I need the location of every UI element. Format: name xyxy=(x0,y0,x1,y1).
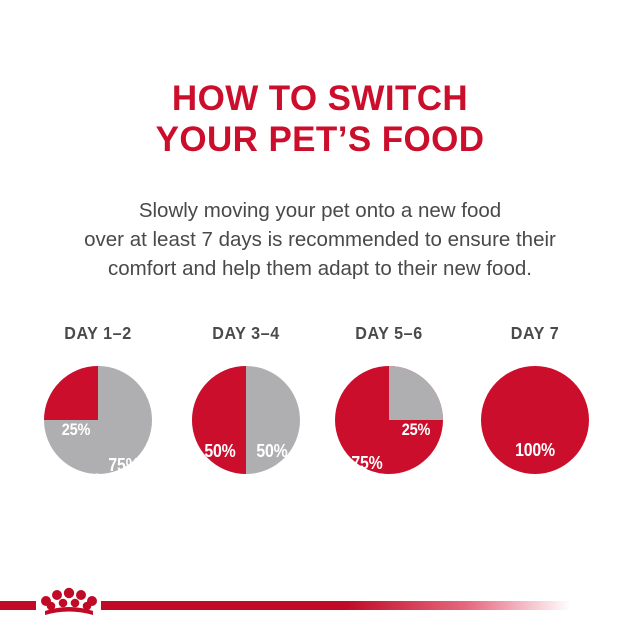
slice-name-new-food: NEW FOOD xyxy=(512,493,558,503)
slice-percent-new-food: 50% xyxy=(197,442,243,460)
slice-name-old-food: OLD FOOD xyxy=(101,508,147,518)
pie-chart-day-7: DAY 7 100% NEW FOOD xyxy=(460,322,610,474)
slice-percent-old-food: 75% xyxy=(101,456,147,474)
slice-label-new-food: 75% NEW FOOD xyxy=(341,422,393,548)
slice-name-new-food: NEW FOOD xyxy=(197,494,243,504)
slice-name-old-food: OLD FOOD xyxy=(394,473,438,483)
footer-brand-bar xyxy=(0,598,640,640)
slice-label-old-food: 25% OLD FOOD xyxy=(391,390,441,514)
slice-name-new-food: NEW FOOD xyxy=(344,506,390,516)
page-title-line-1: HOW TO SWITCH xyxy=(0,78,640,119)
day-label-1: DAY 1–2 xyxy=(29,322,167,344)
page-subtitle-line-2: over at least 7 days is recommended to e… xyxy=(0,225,640,254)
slice-label-new-food: 50% NEW FOOD xyxy=(194,410,246,536)
footer-bar-left-segment xyxy=(0,601,36,610)
slice-percent-new-food: 25% xyxy=(53,422,99,439)
pie-graphic-day-1-2: 25% NEW FOOD 75% OLD FOOD xyxy=(44,366,152,474)
slice-label-new-food: 100% NEW FOOD xyxy=(509,409,561,535)
slice-name-old-food: OLD FOOD xyxy=(249,494,295,504)
pie-chart-row: DAY 1–2 25% NEW FOOD 75% OLD FOOD DAY 3–… xyxy=(0,322,640,492)
page-title: HOW TO SWITCH YOUR PET’S FOOD xyxy=(0,78,640,160)
page-subtitle-line-1: Slowly moving your pet onto a new food xyxy=(0,196,640,225)
slice-label-old-food: 75% OLD FOOD xyxy=(98,424,150,550)
slice-percent-new-food: 100% xyxy=(512,441,558,459)
pie-graphic-day-7: 100% NEW FOOD xyxy=(481,366,589,474)
pie-chart-day-5-6: DAY 5–6 25% OLD FOOD 75% NEW FOOD xyxy=(314,322,464,474)
slice-percent-old-food: 25% xyxy=(394,422,438,439)
day-label-3: DAY 5–6 xyxy=(320,322,458,344)
slice-name-new-food: NEW FOOD xyxy=(53,473,99,483)
pie-graphic-day-3-4: 50% NEW FOOD 50% OLD FOOD xyxy=(192,366,300,474)
page-subtitle: Slowly moving your pet onto a new food o… xyxy=(0,196,640,283)
day-label-4: DAY 7 xyxy=(466,322,604,344)
day-label-2: DAY 3–4 xyxy=(177,322,315,344)
pie-chart-day-1-2: DAY 1–2 25% NEW FOOD 75% OLD FOOD xyxy=(23,322,173,474)
slice-percent-old-food: 50% xyxy=(249,442,295,460)
pie-chart-day-3-4: DAY 3–4 50% NEW FOOD 50% OLD FOOD xyxy=(171,322,321,474)
page-title-line-2: YOUR PET’S FOOD xyxy=(0,119,640,160)
slice-label-old-food: 50% OLD FOOD xyxy=(246,410,298,536)
pie-graphic-day-5-6: 25% OLD FOOD 75% NEW FOOD xyxy=(335,366,443,474)
footer-bar-right-segment xyxy=(101,601,571,610)
slice-label-new-food: 25% NEW FOOD xyxy=(50,390,102,514)
slice-percent-new-food: 75% xyxy=(344,454,390,472)
royal-crown-icon xyxy=(38,582,100,622)
page-subtitle-line-3: comfort and help them adapt to their new… xyxy=(0,254,640,283)
